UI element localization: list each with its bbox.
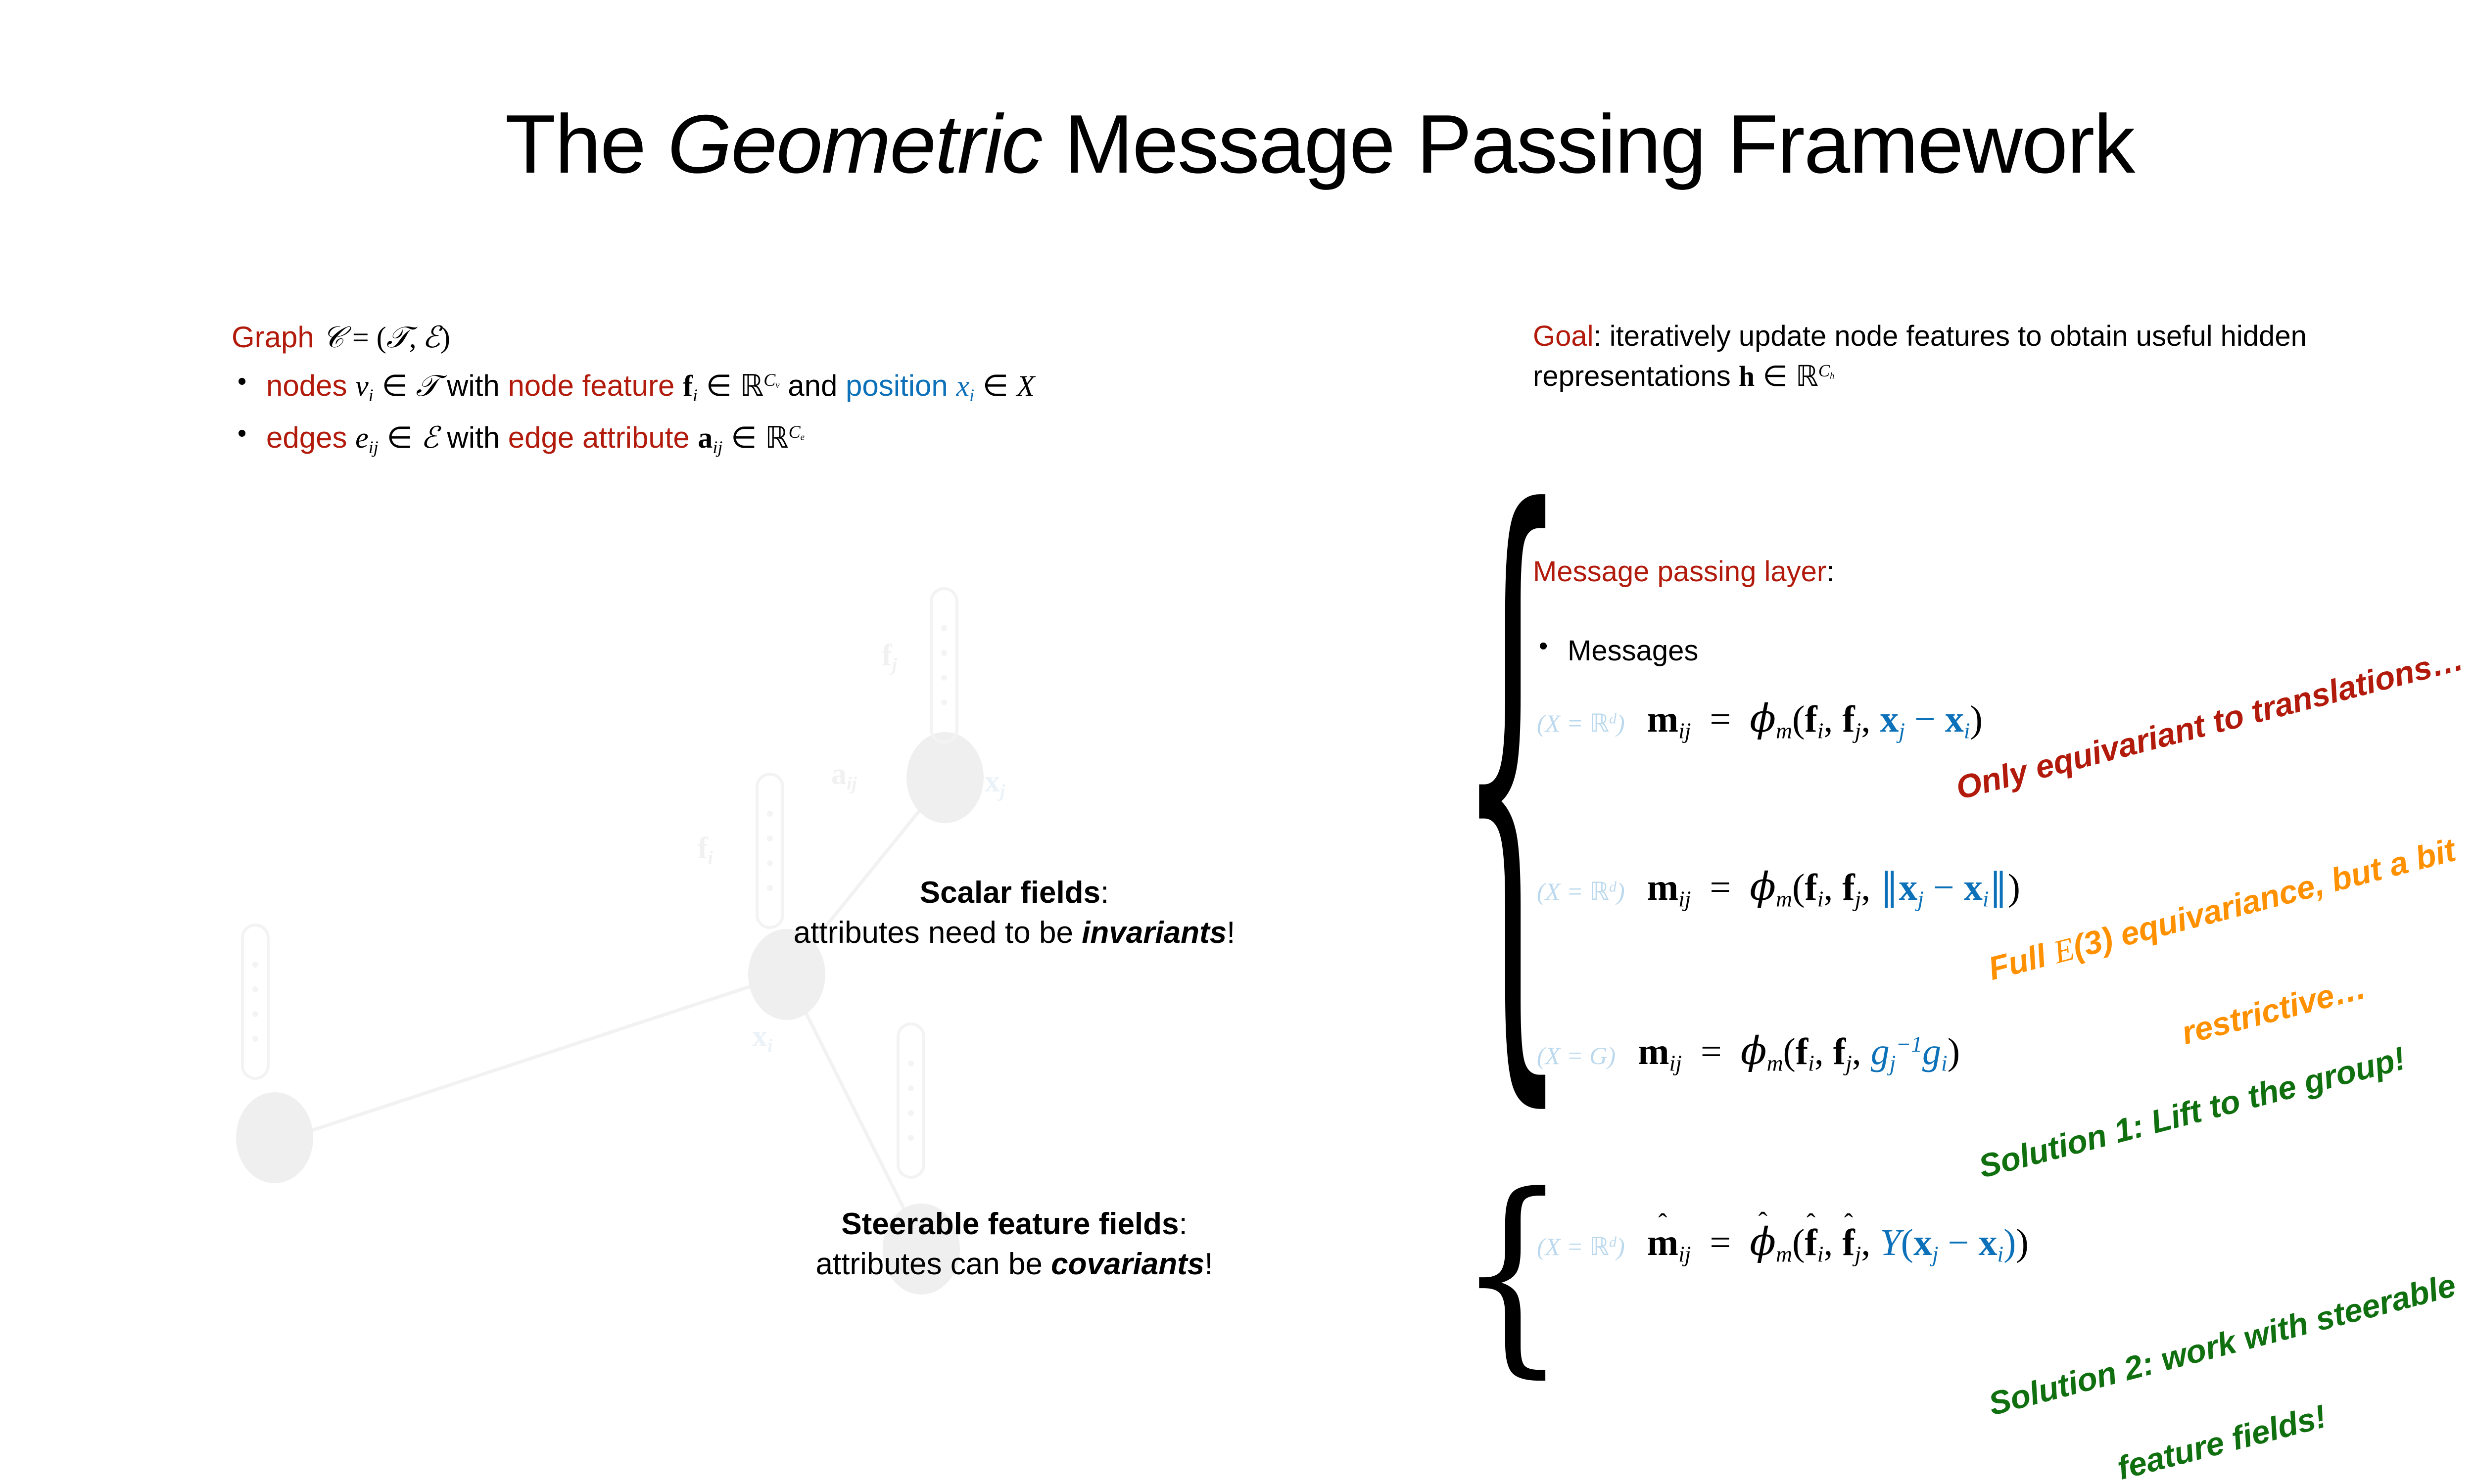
equation-3-prefix: (X = G) (1537, 1042, 1616, 1069)
caption-steerable-fields: Steerable feature fields: attributes can… (569, 1205, 1460, 1284)
fj-label: fj (882, 638, 897, 676)
brace-steerable-group: { (1458, 1167, 1567, 1379)
aij-label: aij (831, 757, 857, 794)
xj-label: xj (985, 764, 1005, 802)
feature-capsule (242, 925, 268, 1078)
fi-label: fi (698, 831, 713, 869)
equation-2-prefix: (X = ℝd) (1537, 878, 1625, 905)
graph-node (236, 1092, 313, 1183)
graph-edge (787, 974, 920, 1242)
caption-steerable-line1: Steerable feature fields: (569, 1205, 1460, 1245)
title-suffix: Message Passing Framework (1042, 97, 2134, 190)
xi-label: xi (752, 1019, 772, 1057)
mp-label: Message passing layer (1533, 556, 1826, 588)
graph-definition-block: Graph 𝒞 = (𝒯, ℰ) nodes vi ∈ 𝒯 with node … (232, 322, 1469, 473)
title-italic-word: Geometric (667, 97, 1042, 190)
messages-bullet: Messages (1533, 634, 2161, 667)
message-passing-layer-heading: Message passing layer: (1533, 555, 2473, 588)
goal-label: Goal (1533, 320, 1594, 352)
equation-2: (X = ℝd) mij = ϕm(fi, fj, ∥xj − xi∥) (1537, 865, 2020, 912)
equation-3: (X = G) mij = ϕm(fi, fj, gj−1gi) (1537, 1029, 1960, 1076)
bullet-nodes: nodes vi ∈ 𝒯 with node feature fi ∈ ℝCv … (232, 370, 1469, 405)
graph-edges (304, 779, 945, 1242)
graph-bullet-list: nodes vi ∈ 𝒯 with node feature fi ∈ ℝCv … (232, 370, 1469, 457)
bullet-edges: edges eij ∈ ℰ with edge attribute aij ∈ … (232, 422, 1469, 457)
equation-1-prefix: (X = ℝd) (1537, 709, 1625, 737)
mp-colon: : (1826, 556, 1834, 588)
equation-1: (X = ℝd) mij = ϕm(fi, fj, xj − xi) (1537, 696, 1983, 744)
caption-scalar-line1: Scalar fields: (569, 873, 1460, 913)
caption-scalar-line2: attributes need to be invariants! (569, 913, 1460, 953)
goal-text: : iteratively update node features to ob… (1533, 320, 2307, 392)
feature-capsule (931, 589, 957, 742)
graph-node (906, 732, 984, 823)
annotation-solution-2-line2: feature fields! (2113, 1397, 2330, 1484)
annotation-solution-1: Solution 1: Lift to the group! (1975, 1039, 2409, 1185)
feature-capsule (898, 1024, 924, 1177)
slide-canvas: The Geometric Message Passing Framework (0, 0, 2474, 1484)
graph-edge (304, 974, 787, 1133)
equation-4: (X = ℝd) ̂mij = ̂ϕm(̂fi, ̂fj, Y(xj − xi)… (1537, 1220, 2029, 1267)
caption-steerable-line2: attributes can be covariants! (569, 1245, 1460, 1285)
page-title: The Geometric Message Passing Framework (0, 96, 2474, 192)
annotation-solution-2-line1: Solution 2: work with steerable (1985, 1266, 2460, 1423)
caption-scalar-fields: Scalar fields: attributes need to be inv… (569, 873, 1460, 953)
goal-block: Goal: iteratively update node features t… (1533, 317, 2473, 396)
equation-4-prefix: (X = ℝd) (1537, 1233, 1625, 1260)
annotation-full-e3-line2: restrictive… (2178, 968, 2370, 1052)
annotation-full-e3-line1: Full E(3) equivariance, but a bit (1984, 831, 2459, 988)
title-prefix: The (505, 97, 667, 190)
graph-headline: Graph 𝒞 = (𝒯, ℰ) (232, 322, 1469, 353)
brace-invariant-group: { (1458, 437, 1567, 1103)
